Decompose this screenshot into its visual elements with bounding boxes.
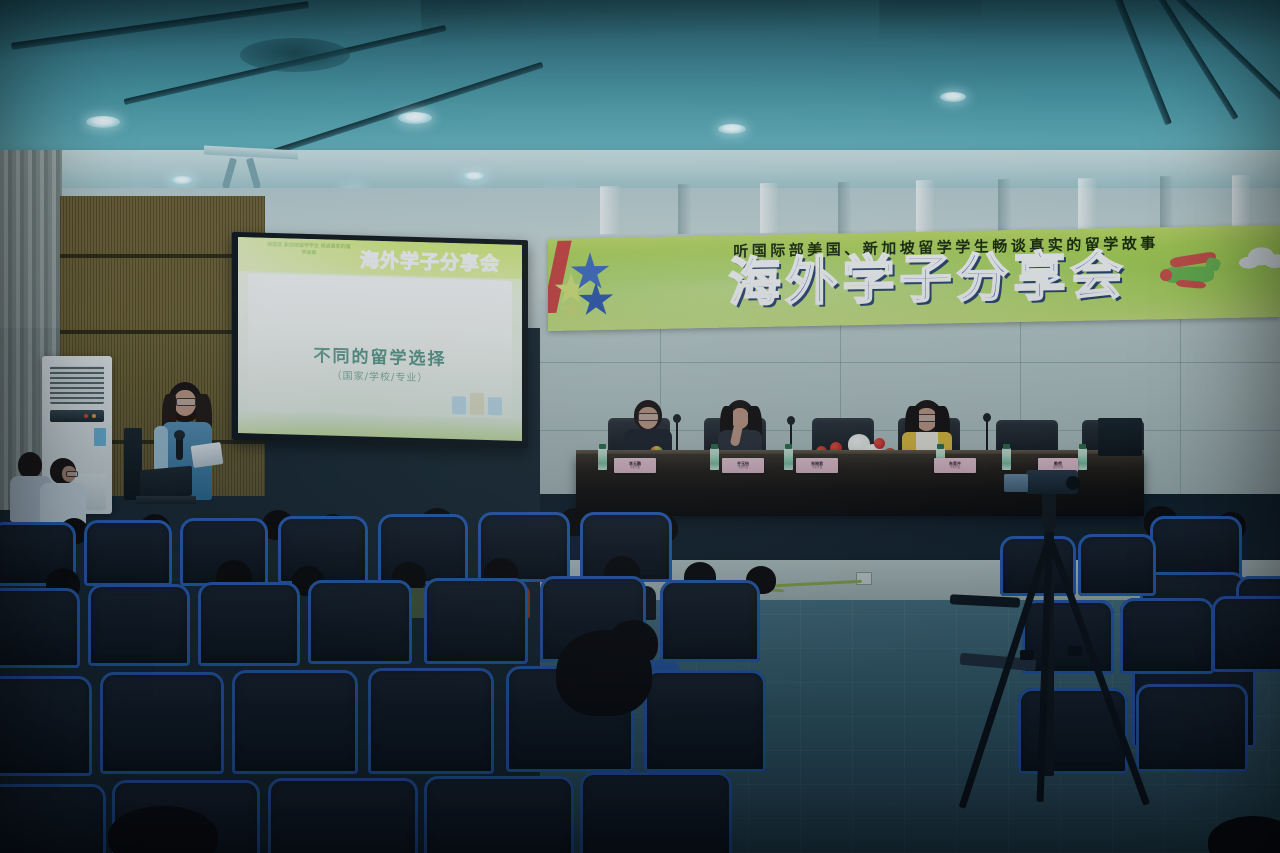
name-card-sub: 指导老师 <box>1038 466 1078 469</box>
microphone-head <box>673 414 681 423</box>
microphone-head <box>983 413 991 422</box>
wall-fin <box>600 186 622 235</box>
star-icon <box>558 296 584 322</box>
camcorder-lcd-screen[interactable] <box>1004 474 1028 492</box>
downlight <box>398 112 432 124</box>
microphone-head <box>787 416 795 425</box>
cloud-icon <box>1248 247 1274 265</box>
auditorium-photo: 听国际部美国、新加坡留学学生畅谈真实的留学故事 海外学子分享会 美国部 新加坡留… <box>0 0 1280 853</box>
wall-fin <box>838 182 852 234</box>
slide-header <box>238 237 522 279</box>
wall-fin <box>1232 175 1252 232</box>
ac-led <box>92 414 96 418</box>
slide-sub-text: （国家/学校/专业） <box>248 364 512 386</box>
rose-flower <box>874 438 885 449</box>
wall-fin <box>1078 178 1098 233</box>
seat[interactable] <box>368 668 494 774</box>
downlight <box>718 124 746 134</box>
wall-fin <box>916 180 936 233</box>
microphone-stand <box>986 418 988 452</box>
name-card-sub: 学生代表 <box>722 466 764 469</box>
book-icon <box>470 393 484 415</box>
building-icon <box>488 397 502 415</box>
ribbon-decor <box>548 241 572 314</box>
av-speaker-box <box>1098 418 1142 456</box>
bottle-cap <box>599 444 606 449</box>
name-card: 李云鹏 学生代表 <box>614 458 656 473</box>
wall-fin <box>760 183 780 234</box>
ac-grille <box>50 366 104 404</box>
slide-header-title: 海外学子分享会 <box>350 245 510 276</box>
bottle-cap <box>1079 444 1086 449</box>
head <box>18 452 42 478</box>
wall-fin <box>1160 176 1174 232</box>
seat[interactable] <box>88 584 190 666</box>
name-card: 朱家卉 学生代表 <box>934 458 976 473</box>
tripod-head <box>1042 494 1056 528</box>
downlight <box>170 176 194 185</box>
wall-fin <box>998 179 1012 233</box>
name-card: 齐玉怡 学生代表 <box>722 458 764 473</box>
seat[interactable] <box>1120 598 1214 674</box>
scissor-arm <box>246 158 261 189</box>
event-banner: 听国际部美国、新加坡留学学生畅谈真实的留学故事 海外学子分享会 <box>548 225 1280 331</box>
water-bottle <box>598 448 607 470</box>
slide-header-subtitle: 美国部 新加坡留学学生 畅谈真实的留学故事 <box>266 242 352 258</box>
seat[interactable] <box>198 582 300 666</box>
seat[interactable] <box>0 676 92 776</box>
name-card-sub: 学生代表 <box>614 466 656 469</box>
bottle-cap <box>785 444 792 449</box>
water-bottle <box>1002 448 1011 470</box>
seat[interactable] <box>424 578 528 664</box>
water-bottle <box>710 448 719 470</box>
downlight <box>940 92 966 102</box>
glasses-icon <box>66 471 78 477</box>
tripod-lock[interactable] <box>1068 646 1082 656</box>
ceiling-vent <box>240 38 350 72</box>
bottle-cap <box>937 444 944 449</box>
projection-screen: 美国部 新加坡留学学生 畅谈真实的留学故事 海外学子分享会 不同的留学选择 （国… <box>232 232 528 448</box>
seat[interactable] <box>268 778 418 853</box>
slide-main-text: 不同的留学选择 <box>248 340 512 372</box>
ac-led <box>84 414 88 418</box>
camera-tripod <box>992 470 1112 840</box>
tripod-lock[interactable] <box>1020 650 1034 660</box>
slide-body: 不同的留学选择 （国家/学校/专业） <box>248 273 512 418</box>
seat[interactable] <box>0 588 80 668</box>
wall-seam <box>540 362 1280 363</box>
seat[interactable] <box>100 672 224 774</box>
ceiling-slot <box>256 62 543 160</box>
seat[interactable] <box>0 784 106 853</box>
downlight <box>86 116 120 128</box>
microphone-head <box>174 430 185 440</box>
seat[interactable] <box>308 580 412 664</box>
downlight <box>462 172 486 181</box>
projected-slide: 美国部 新加坡留学学生 畅谈真实的留学故事 海外学子分享会 不同的留学选择 （国… <box>238 237 522 441</box>
water-bottle <box>1078 448 1087 470</box>
name-card: 宋晓君 学生代表 <box>796 458 838 473</box>
name-card-sub: 学生代表 <box>934 466 976 469</box>
water-bottle <box>784 448 793 470</box>
seat[interactable] <box>424 776 574 853</box>
seat[interactable] <box>232 670 358 774</box>
airplane-icon <box>1160 252 1224 295</box>
bottle-cap <box>1003 444 1010 449</box>
star-icon <box>578 282 614 319</box>
camera-lens-icon <box>1066 476 1080 490</box>
seat[interactable] <box>580 772 732 853</box>
scissor-arm <box>222 158 237 189</box>
tablet <box>191 442 224 468</box>
glasses-icon <box>638 413 659 421</box>
seat[interactable] <box>1212 596 1280 672</box>
wall-seam <box>1180 300 1181 500</box>
microphone-stand <box>676 418 678 452</box>
ac-energy-label <box>94 428 106 446</box>
bottle-cap <box>711 444 718 449</box>
head <box>556 630 652 716</box>
seat[interactable] <box>1136 684 1248 772</box>
glasses-icon <box>176 398 196 406</box>
building-icon <box>452 396 466 414</box>
ac-display-panel <box>50 410 104 422</box>
banner-title: 海外学子分享会 <box>668 249 1188 311</box>
seat[interactable] <box>644 670 766 772</box>
name-card-sub: 学生代表 <box>796 466 838 469</box>
wall-fin <box>678 184 692 234</box>
